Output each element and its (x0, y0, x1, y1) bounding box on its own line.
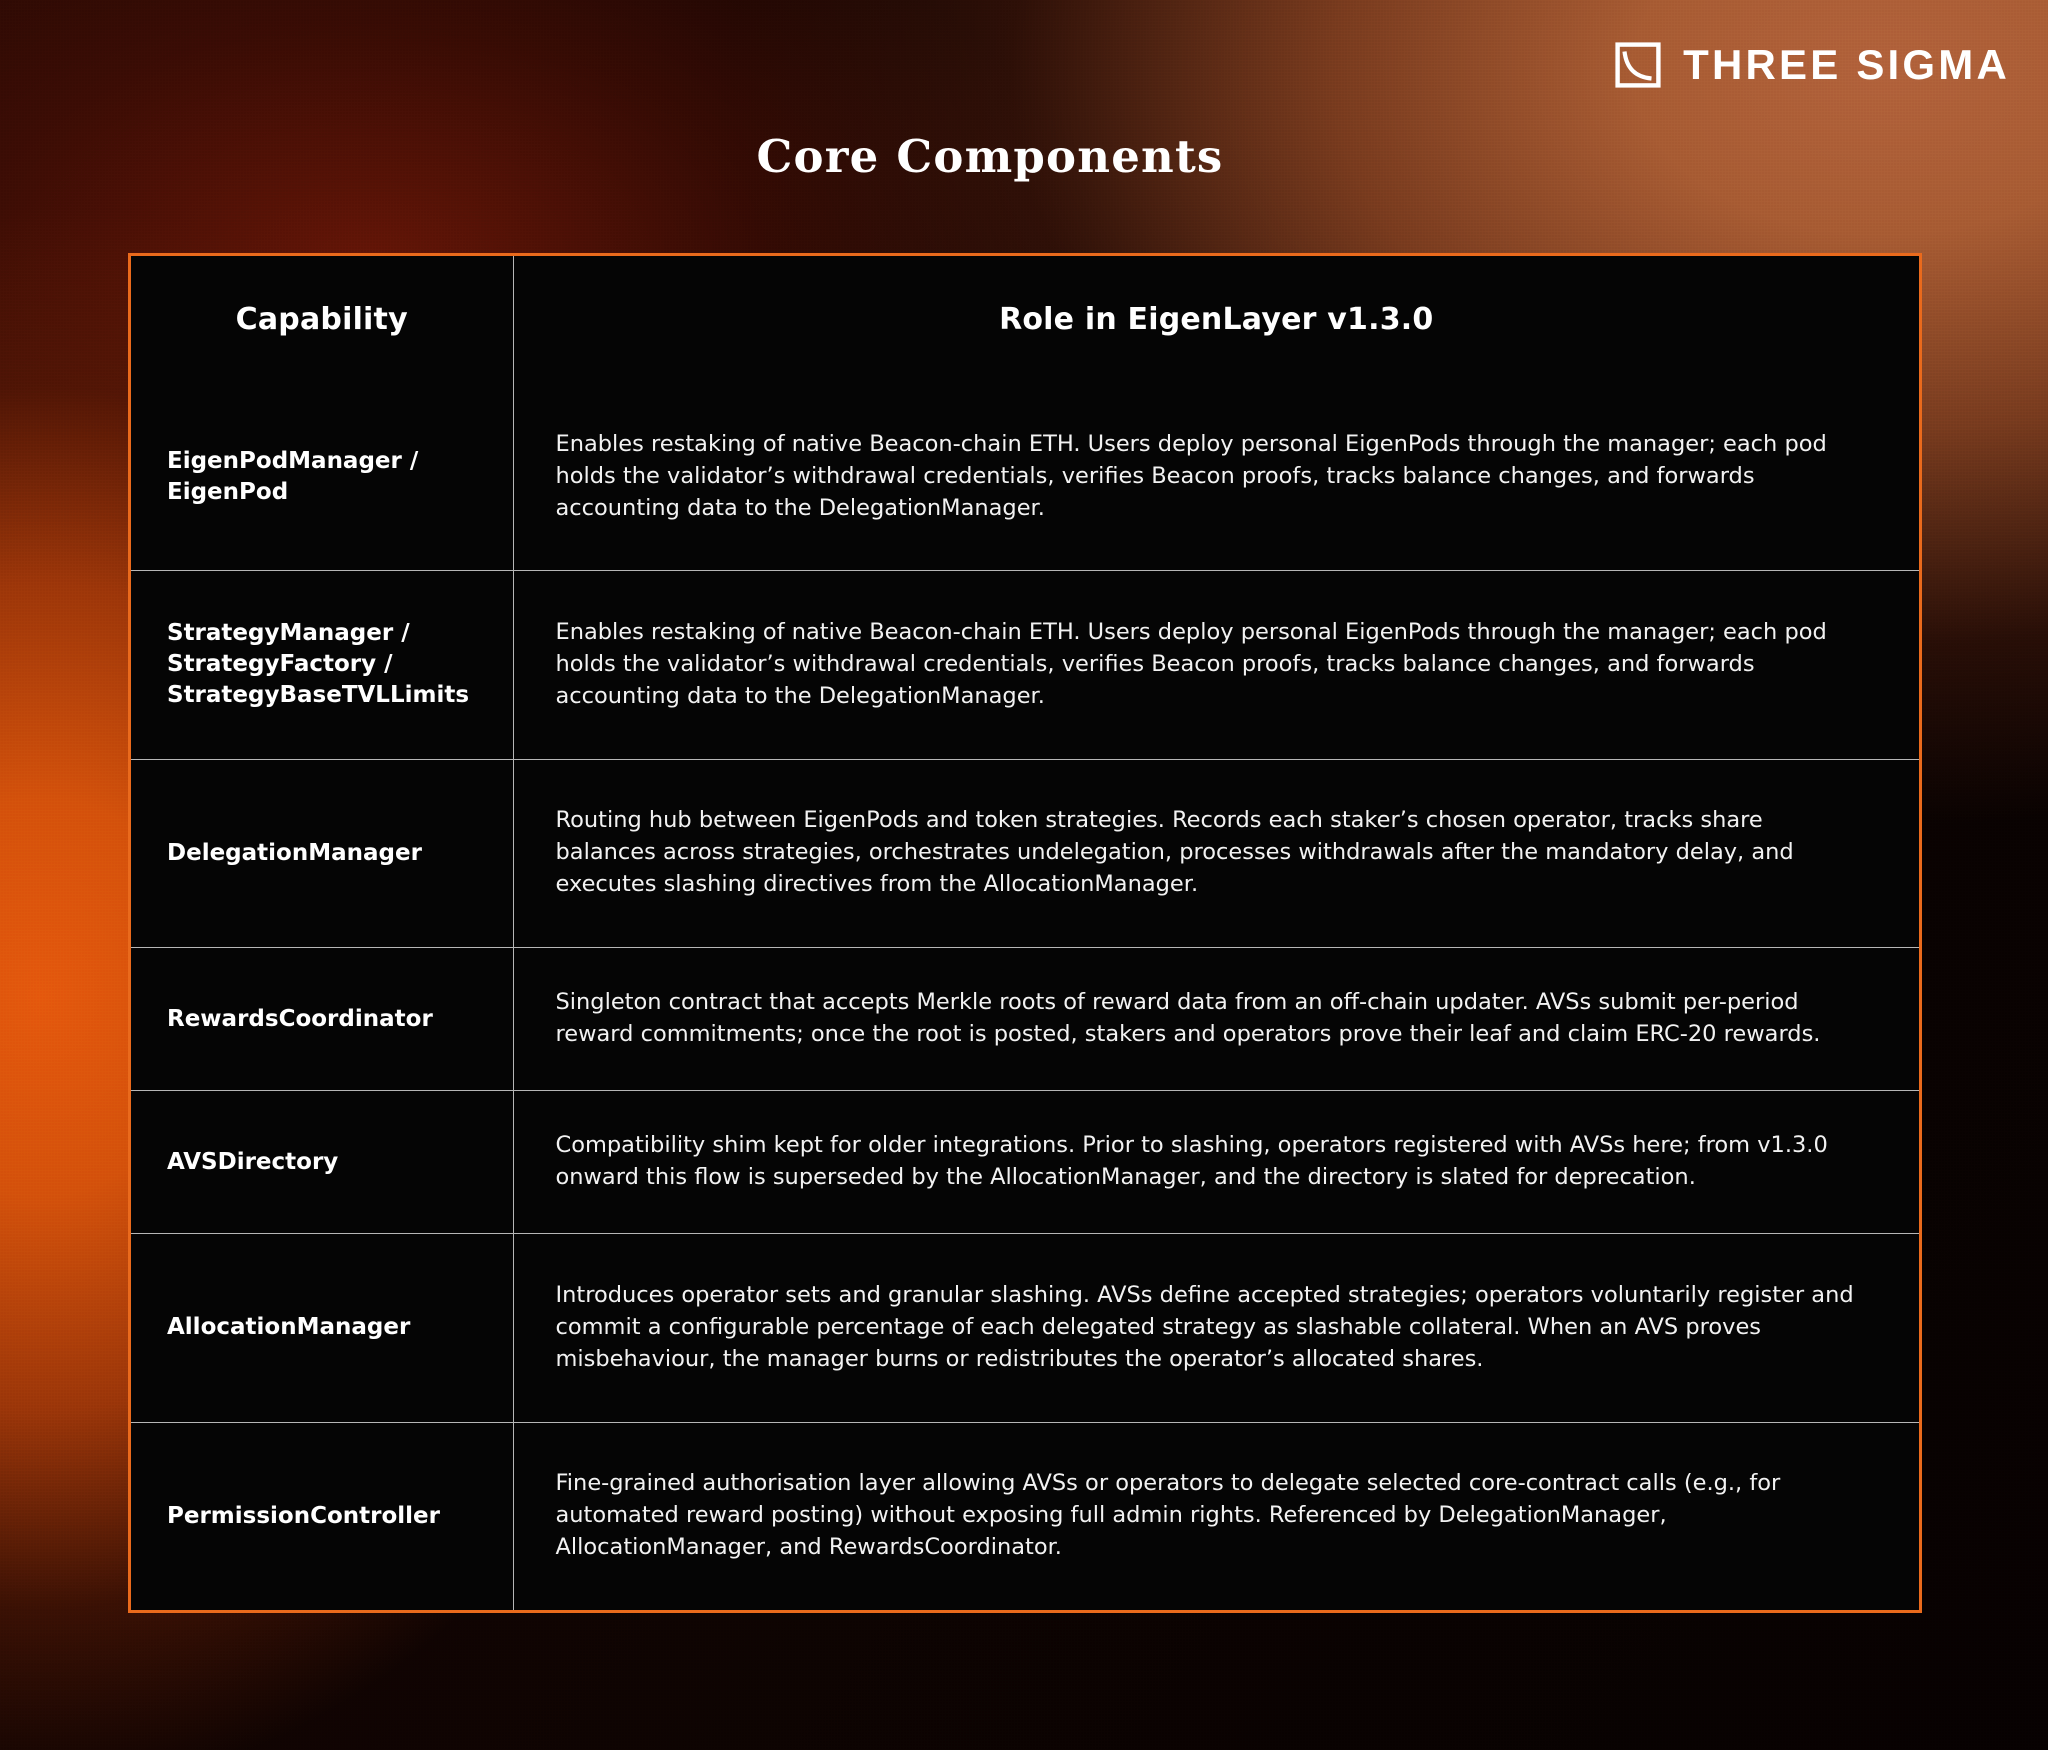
table-row: RewardsCoordinatorSingleton contract tha… (131, 948, 1919, 1091)
capability-cell: StrategyManager / StrategyFactory / Stra… (131, 571, 513, 759)
column-header-role: Role in EigenLayer v1.3.0 (513, 256, 1919, 383)
table-header: Capability Role in EigenLayer v1.3.0 (131, 256, 1919, 383)
capability-cell: PermissionController (131, 1422, 513, 1610)
table-row: PermissionControllerFine-grained authori… (131, 1422, 1919, 1610)
table-header-row: Capability Role in EigenLayer v1.3.0 (131, 256, 1919, 383)
capability-cell: AVSDirectory (131, 1091, 513, 1234)
table-row: AllocationManagerIntroduces operator set… (131, 1234, 1919, 1422)
table-row: StrategyManager / StrategyFactory / Stra… (131, 571, 1919, 759)
three-sigma-square-curve-icon (1615, 42, 1661, 88)
capability-cell: RewardsCoordinator (131, 948, 513, 1091)
capability-cell: EigenPodManager / EigenPod (131, 383, 513, 571)
role-cell: Singleton contract that accepts Merkle r… (513, 948, 1919, 1091)
role-cell: Fine-grained authorisation layer allowin… (513, 1422, 1919, 1610)
role-cell: Routing hub between EigenPods and token … (513, 759, 1919, 947)
role-cell: Enables restaking of native Beacon-chain… (513, 383, 1919, 571)
brand-name: THREE SIGMA (1683, 44, 2010, 86)
core-components-table: Capability Role in EigenLayer v1.3.0 Eig… (131, 256, 1919, 1610)
capability-cell: AllocationManager (131, 1234, 513, 1422)
table-row: AVSDirectoryCompatibility shim kept for … (131, 1091, 1919, 1234)
brand-logo: THREE SIGMA (1615, 36, 2010, 94)
capability-cell: DelegationManager (131, 759, 513, 947)
role-cell: Enables restaking of native Beacon-chain… (513, 571, 1919, 759)
table-body: EigenPodManager / EigenPodEnables restak… (131, 383, 1919, 1610)
role-cell: Compatibility shim kept for older integr… (513, 1091, 1919, 1234)
page-title: Core Components (0, 130, 1980, 183)
role-cell: Introduces operator sets and granular sl… (513, 1234, 1919, 1422)
column-header-capability: Capability (131, 256, 513, 383)
table-row: DelegationManagerRouting hub between Eig… (131, 759, 1919, 947)
core-components-table-container: Capability Role in EigenLayer v1.3.0 Eig… (128, 253, 1922, 1613)
table-row: EigenPodManager / EigenPodEnables restak… (131, 383, 1919, 571)
